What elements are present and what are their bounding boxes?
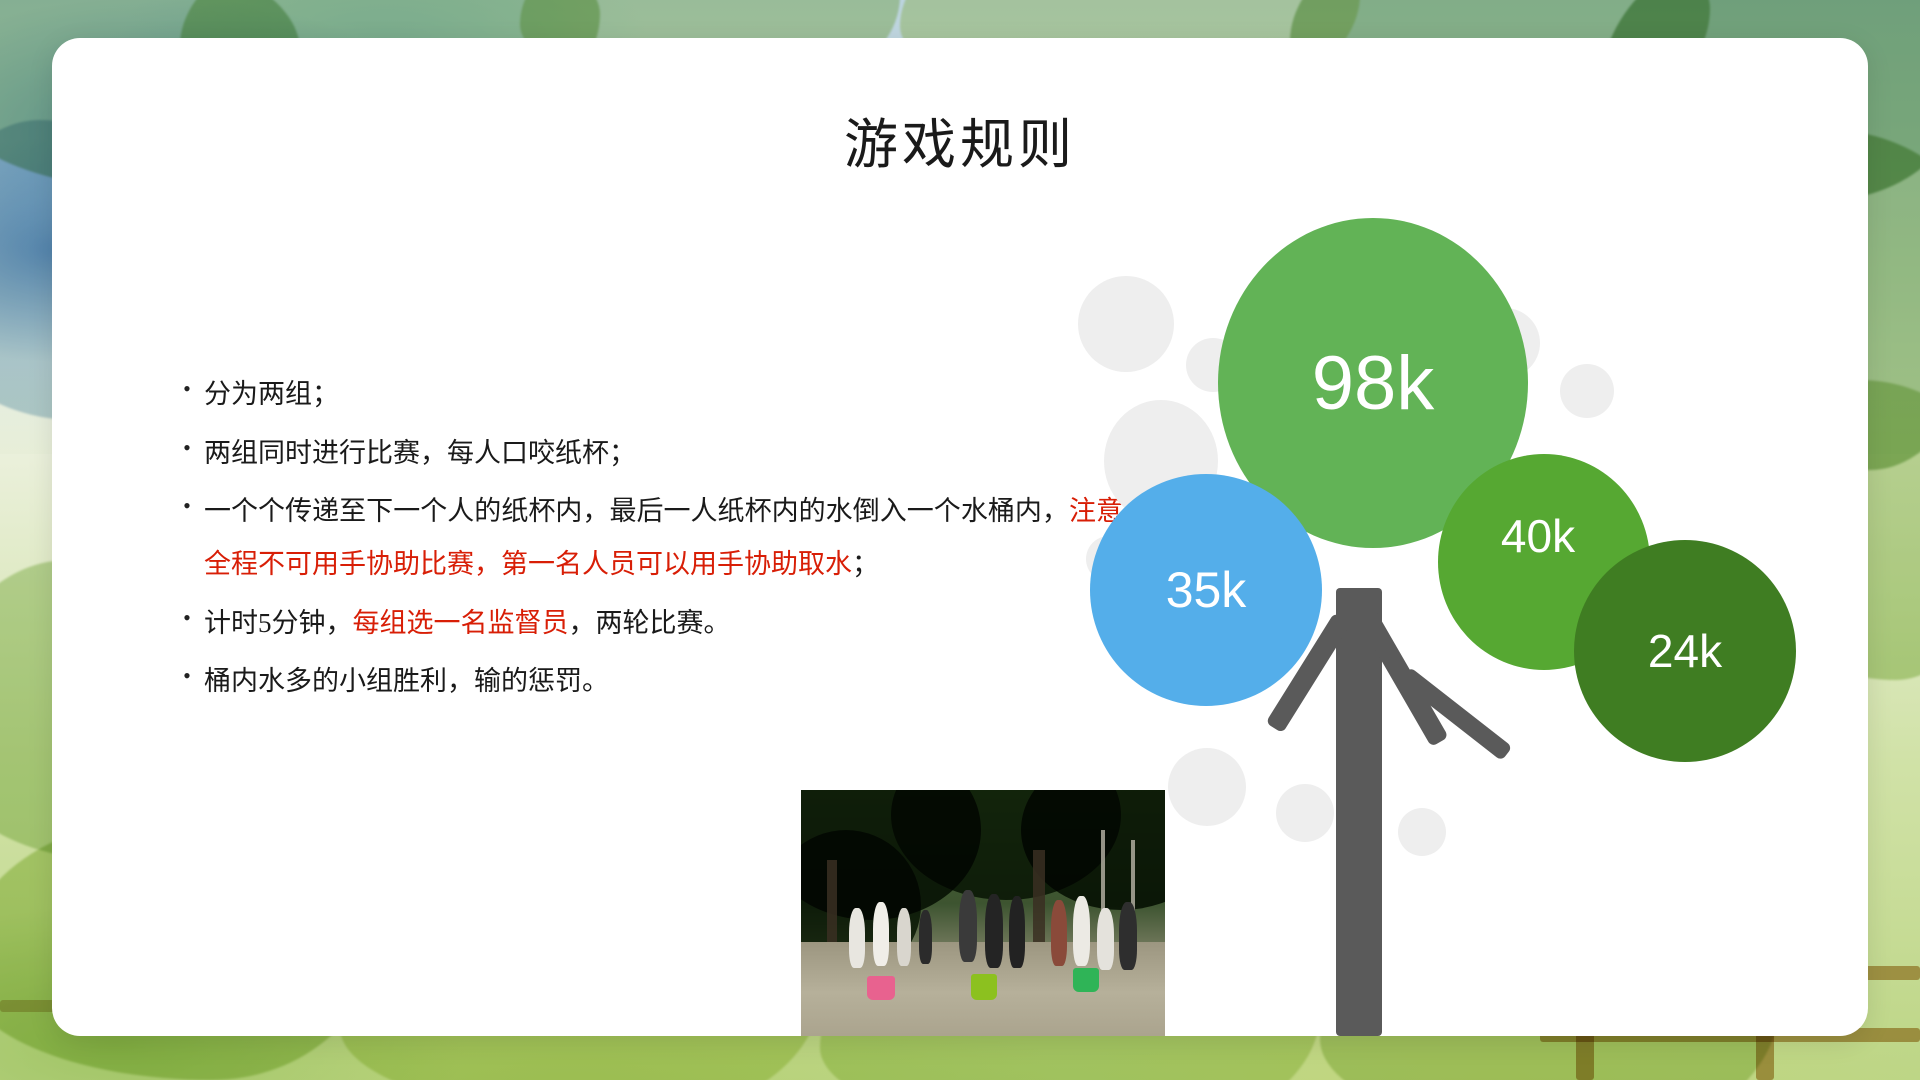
bubble-35k-label: 35k: [1166, 561, 1247, 619]
ghost-bubble: [1168, 748, 1246, 826]
rule-item-text: 两组同时进行比赛，每人口咬纸杯；: [204, 427, 1150, 480]
rule-text-plain: 一个个传递至下一个人的纸杯内，最后一人纸杯内的水倒入一个水桶内，: [204, 496, 1069, 526]
photo-participant: [919, 910, 932, 964]
rule-item: •桶内水多的小组胜利，输的惩罚。: [170, 655, 1150, 708]
rule-item-text: 桶内水多的小组胜利，输的惩罚。: [204, 655, 1150, 708]
rule-text-plain: 桶内水多的小组胜利，输的惩罚。: [204, 666, 609, 696]
rule-item: •两组同时进行比赛，每人口咬纸杯；: [170, 427, 1150, 480]
rules-list: •分为两组；•两组同时进行比赛，每人口咬纸杯；•一个个传递至下一个人的纸杯内，最…: [170, 368, 1150, 714]
ghost-bubble: [1398, 808, 1446, 856]
rule-text-plain: 分为两组；: [204, 379, 339, 409]
rule-item: •一个个传递至下一个人的纸杯内，最后一人纸杯内的水倒入一个水桶内，注意：全程不可…: [170, 485, 1150, 590]
bubble-40k-label: 40k: [1501, 509, 1575, 563]
bullet-dot-icon: •: [170, 427, 204, 470]
photo-bucket-green: [971, 974, 997, 1000]
page-title: 游戏规则: [52, 100, 1868, 179]
rule-text-plain: ；: [852, 549, 879, 579]
rule-text-plain: 计时5分钟，: [204, 608, 353, 638]
rule-text-highlight: 每组选一名监督员: [353, 608, 569, 638]
ghost-bubble: [1560, 364, 1614, 418]
photo-participant: [985, 894, 1003, 968]
ghost-bubble: [1078, 276, 1174, 372]
photo-bucket-pink: [867, 976, 895, 1000]
bubble-35k[interactable]: 35k: [1090, 474, 1322, 706]
bubble-24k[interactable]: 24k: [1574, 540, 1796, 762]
photo-participant: [897, 908, 911, 966]
ghost-bubble: [1276, 784, 1334, 842]
rule-text-plain: ，两轮比赛。: [569, 608, 731, 638]
rule-item: •分为两组；: [170, 368, 1150, 421]
bullet-dot-icon: •: [170, 485, 204, 528]
photo-participant: [1051, 900, 1067, 966]
bullet-dot-icon: •: [170, 655, 204, 698]
bubble-24k-label: 24k: [1648, 624, 1722, 678]
rule-text-plain: 两组同时进行比赛，每人口咬纸杯；: [204, 438, 636, 468]
rule-item: •计时5分钟，每组选一名监督员，两轮比赛。: [170, 597, 1150, 650]
bubble-98k-label: 98k: [1312, 340, 1435, 427]
bubble-tree-chart: 98k 35k 40k 24k: [1068, 188, 1828, 1036]
photo-participant: [873, 902, 889, 966]
tree-trunk: [1336, 588, 1382, 1036]
photo-participant: [849, 908, 865, 968]
bullet-dot-icon: •: [170, 597, 204, 640]
rule-item-text: 一个个传递至下一个人的纸杯内，最后一人纸杯内的水倒入一个水桶内，注意：全程不可用…: [204, 485, 1150, 590]
rule-item-text: 计时5分钟，每组选一名监督员，两轮比赛。: [204, 597, 1150, 650]
photo-participant: [959, 890, 977, 962]
slide-card: 游戏规则 •分为两组；•两组同时进行比赛，每人口咬纸杯；•一个个传递至下一个人的…: [52, 38, 1868, 1036]
bullet-dot-icon: •: [170, 368, 204, 411]
rule-item-text: 分为两组；: [204, 368, 1150, 421]
photo-participant: [1009, 896, 1025, 968]
